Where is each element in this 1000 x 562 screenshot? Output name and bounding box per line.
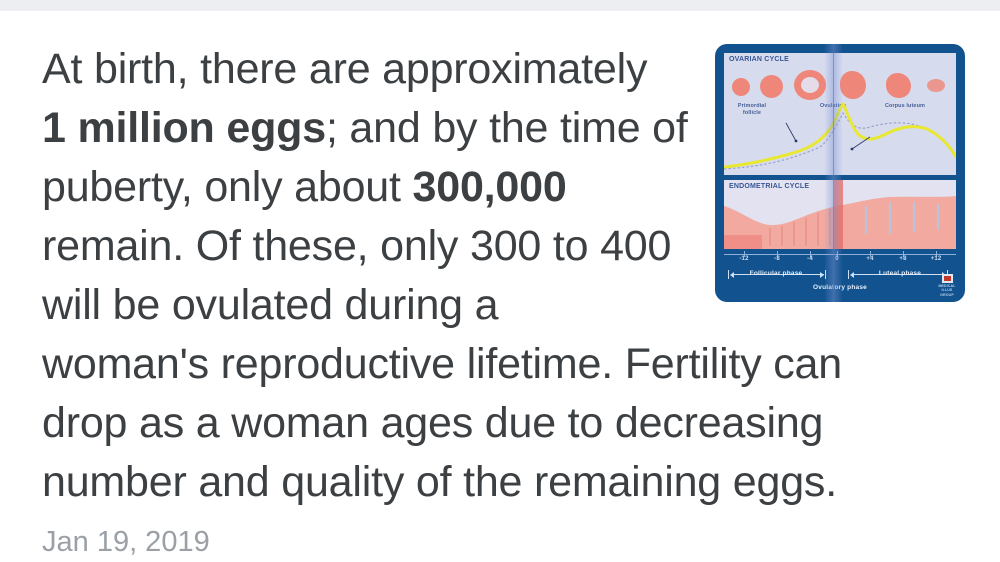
publisher-logo-mark xyxy=(942,274,953,283)
follicle-icon-ovulating xyxy=(840,71,866,99)
endometrial-cycle-panel: ENDOMETRIAL CYCLE xyxy=(724,180,956,249)
follicle-icon-corpus-luteum xyxy=(886,73,911,98)
axis-tick-plus12: +12 xyxy=(931,256,942,262)
arrow-head-left xyxy=(795,140,798,143)
publisher-logo-line-3: GROUP xyxy=(936,293,958,297)
endometrial-cycle-label: ENDOMETRIAL CYCLE xyxy=(729,183,809,190)
follicle-icon-primordial xyxy=(732,78,750,96)
phase-label-ovulatory: Ovulatory phase xyxy=(724,284,956,291)
lh-hormone-curve xyxy=(724,104,956,167)
follicle-icon-primary xyxy=(760,75,783,98)
axis-tick-zero: 0 xyxy=(835,256,839,262)
emphasis-text: 1 million eggs xyxy=(42,104,326,152)
endometrium-svg xyxy=(724,180,956,249)
thumbnail-image: OVARIAN CYCLE Primordial follicle Ovulat… xyxy=(715,44,965,302)
cycle-phase-bar: Follicular phase Luteal phase xyxy=(724,268,956,282)
phase-label-luteal: Luteal phase xyxy=(879,270,921,277)
follicle-stage-row xyxy=(724,67,956,101)
annotation-arrow-right xyxy=(852,137,870,149)
snippet-thumbnail[interactable]: OVARIAN CYCLE Primordial follicle Ovulat… xyxy=(715,44,965,302)
annotation-arrow-left xyxy=(786,123,796,141)
emphasis-text: 300,000 xyxy=(413,163,567,211)
ovulation-reference-line xyxy=(833,44,834,302)
ovarian-cycle-panel: OVARIAN CYCLE Primordial follicle Ovulat… xyxy=(724,53,956,175)
hormone-curves-svg xyxy=(724,97,956,175)
body-text: At birth, there are approximately xyxy=(42,45,647,93)
thumbnail-publisher-logo: MEDICAL ILLUS GROUP xyxy=(936,274,958,298)
browser-top-band xyxy=(0,0,1000,11)
follicle-icon-corpus-albicans xyxy=(927,79,945,92)
follicle-icon-graafian xyxy=(794,70,826,100)
axis-tick-minus4: -4 xyxy=(807,256,813,262)
featured-snippet: At birth, there are approximately 1 mill… xyxy=(0,11,1000,562)
cycle-day-axis: -12 -8 -4 0 +4 +8 +12 xyxy=(724,251,956,265)
ovarian-cycle-label: OVARIAN CYCLE xyxy=(729,56,789,63)
phase-label-follicular: Follicular phase xyxy=(750,270,803,277)
arrow-head-right xyxy=(851,148,854,151)
ovulation-marker-endo xyxy=(834,180,843,249)
snippet-date: Jan 19, 2019 xyxy=(42,524,210,560)
axis-tick-plus4: +4 xyxy=(866,256,873,262)
axis-tick-minus8: -8 xyxy=(774,256,780,262)
menstruation-block xyxy=(724,235,762,249)
axis-line xyxy=(724,254,956,255)
axis-tick-minus12: -12 xyxy=(739,256,748,262)
axis-tick-plus8: +8 xyxy=(899,256,906,262)
